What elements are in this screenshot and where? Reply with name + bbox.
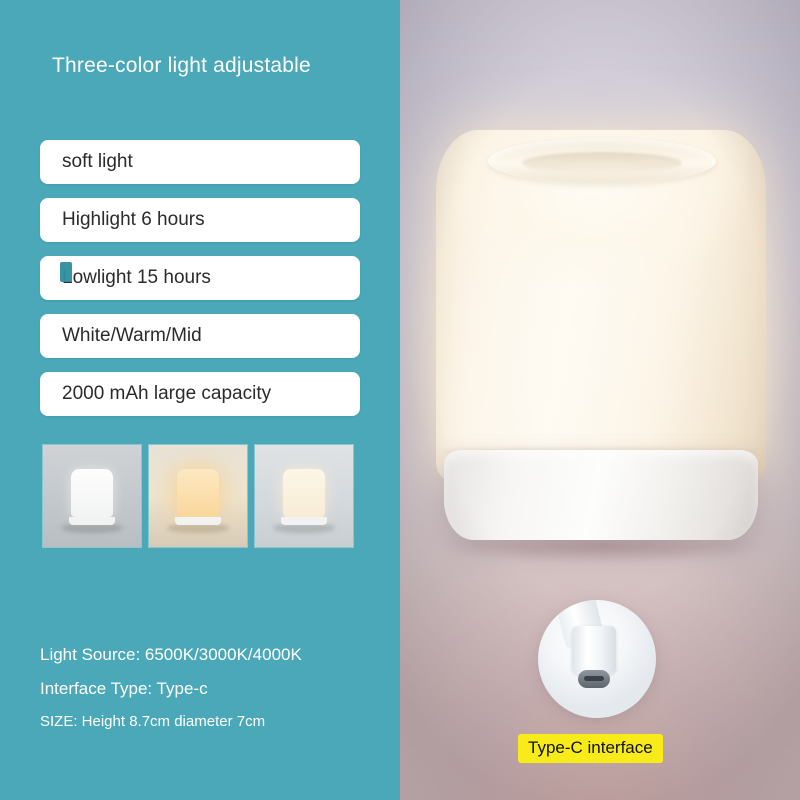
type-c-connector-inset bbox=[538, 600, 656, 718]
mid-light-thumbnail[interactable] bbox=[254, 444, 354, 548]
decorative-marker bbox=[60, 262, 72, 282]
page-title: Three-color light adjustable bbox=[52, 54, 311, 78]
mini-lamp-shade bbox=[177, 469, 219, 517]
left-info-panel: Three-color light adjustable soft light … bbox=[0, 0, 400, 800]
spec-size: SIZE: Height 8.7cm diameter 7cm bbox=[40, 713, 302, 730]
usb-c-plug-slot bbox=[584, 676, 604, 681]
mini-lamp bbox=[177, 469, 219, 525]
mini-lamp-base bbox=[281, 517, 327, 525]
mini-lamp-shade bbox=[71, 469, 113, 517]
spec-light-source: Light Source: 6500K/3000K/4000K bbox=[40, 645, 302, 665]
list-item: White/Warm/Mid bbox=[40, 314, 360, 358]
mini-lamp bbox=[71, 469, 113, 525]
spec-block: Light Source: 6500K/3000K/4000K Interfac… bbox=[40, 645, 302, 730]
thumbnail-strip bbox=[42, 444, 354, 548]
feature-list: soft light Highlight 6 hours Lowlight 15… bbox=[40, 140, 360, 430]
type-c-caption: Type-C interface bbox=[518, 734, 663, 763]
product-infographic: Three-color light adjustable soft light … bbox=[0, 0, 800, 800]
white-light-thumbnail[interactable] bbox=[42, 444, 142, 548]
feature-label: Highlight 6 hours bbox=[40, 209, 205, 231]
feature-label: White/Warm/Mid bbox=[40, 325, 202, 347]
product-photo-panel: Type-C interface bbox=[400, 0, 800, 800]
mini-lamp-base bbox=[175, 517, 221, 525]
feature-label: soft light bbox=[40, 151, 133, 173]
connector-housing bbox=[572, 626, 616, 674]
list-item: Lowlight 15 hours bbox=[40, 256, 360, 300]
mini-lamp-shade bbox=[283, 469, 325, 517]
list-item: soft light bbox=[40, 140, 360, 184]
list-item: 2000 mAh large capacity bbox=[40, 372, 360, 416]
list-item: Highlight 6 hours bbox=[40, 198, 360, 242]
feature-label: 2000 mAh large capacity bbox=[40, 383, 271, 405]
spec-interface-type: Interface Type: Type-c bbox=[40, 679, 302, 699]
mini-lamp bbox=[283, 469, 325, 525]
warm-light-thumbnail[interactable] bbox=[148, 444, 248, 548]
mini-lamp-base bbox=[69, 517, 115, 525]
